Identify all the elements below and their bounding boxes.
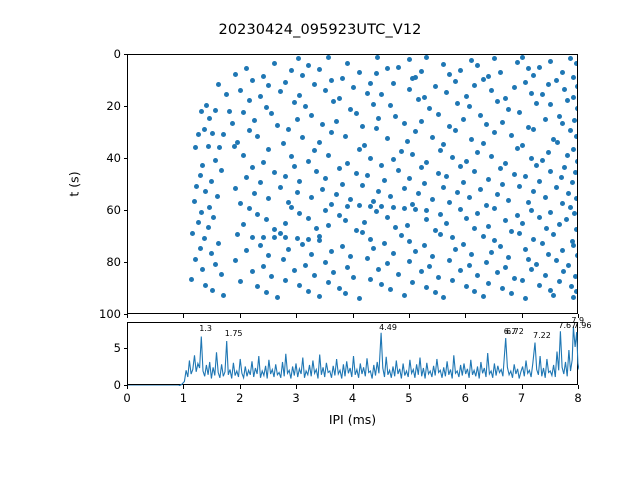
scatter-point bbox=[365, 256, 370, 261]
scatter-point bbox=[543, 273, 548, 278]
scatter-point bbox=[548, 210, 553, 215]
scatter-point bbox=[450, 155, 455, 160]
scatter-point bbox=[309, 252, 314, 257]
scatter-point bbox=[247, 206, 252, 211]
scatter-point bbox=[433, 84, 438, 89]
scatter-point bbox=[529, 208, 534, 213]
scatter-point bbox=[438, 212, 443, 217]
scatter-point bbox=[441, 62, 446, 67]
scatter-point bbox=[436, 275, 441, 280]
scatter-point bbox=[374, 126, 379, 131]
histogram-x-tick-label: 5 bbox=[405, 391, 412, 405]
scatter-point bbox=[419, 269, 424, 274]
scatter-point bbox=[255, 284, 260, 289]
scatter-point bbox=[266, 83, 271, 88]
scatter-point bbox=[329, 130, 334, 135]
scatter-point bbox=[190, 231, 195, 236]
scatter-point bbox=[484, 203, 489, 208]
scatter-point bbox=[575, 253, 577, 258]
scatter-point bbox=[512, 172, 517, 177]
scatter-point bbox=[385, 66, 390, 71]
scatter-point bbox=[348, 254, 353, 259]
scatter-point bbox=[537, 215, 542, 220]
scatter-point bbox=[419, 119, 424, 124]
scatter-point bbox=[531, 189, 536, 194]
histogram-x-tick bbox=[240, 385, 241, 389]
scatter-point bbox=[343, 218, 348, 223]
scatter-point bbox=[416, 97, 421, 102]
scatter-point bbox=[433, 228, 438, 233]
scatter-point bbox=[475, 273, 480, 278]
scatter-point bbox=[221, 132, 226, 137]
scatter-point bbox=[376, 116, 381, 121]
scatter-point bbox=[500, 120, 505, 125]
histogram-x-tick bbox=[353, 385, 354, 389]
scatter-y-tick-label: 20 bbox=[81, 99, 121, 113]
histogram-x-tick bbox=[522, 385, 523, 389]
scatter-point bbox=[297, 93, 302, 98]
scatter-point bbox=[441, 142, 446, 147]
scatter-point bbox=[572, 211, 577, 216]
scatter-point bbox=[329, 249, 334, 254]
scatter-point bbox=[529, 156, 534, 161]
scatter-point bbox=[548, 59, 553, 64]
scatter-point bbox=[410, 76, 415, 81]
scatter-point bbox=[566, 263, 571, 268]
histogram-x-tick-label: 3 bbox=[292, 391, 299, 405]
scatter-point bbox=[484, 122, 489, 127]
scatter-point bbox=[295, 190, 300, 195]
scatter-point bbox=[348, 197, 353, 202]
scatter-point bbox=[413, 207, 418, 212]
scatter-point bbox=[300, 73, 305, 78]
scatter-point bbox=[210, 288, 215, 293]
scatter-point bbox=[571, 295, 576, 300]
scatter-point bbox=[258, 94, 263, 99]
histogram-x-tick bbox=[183, 385, 184, 389]
scatter-point bbox=[281, 257, 286, 262]
scatter-point bbox=[430, 254, 435, 259]
scatter-point bbox=[331, 99, 336, 104]
scatter-point bbox=[213, 262, 218, 267]
scatter-point bbox=[427, 264, 432, 269]
scatter-point bbox=[300, 242, 305, 247]
scatter-point bbox=[453, 128, 458, 133]
scatter-point bbox=[357, 203, 362, 208]
scatter-point bbox=[424, 160, 429, 165]
scatter-point bbox=[430, 135, 435, 140]
scatter-point bbox=[573, 170, 577, 175]
page-title: 20230424_095923UTC_V12 bbox=[0, 22, 640, 38]
scatter-point bbox=[455, 190, 460, 195]
histogram-x-tick bbox=[127, 385, 128, 389]
scatter-point bbox=[562, 87, 567, 92]
scatter-point bbox=[292, 268, 297, 273]
scatter-point bbox=[523, 80, 528, 85]
scatter-point bbox=[252, 191, 257, 196]
scatter-point bbox=[217, 145, 222, 150]
scatter-point bbox=[309, 113, 314, 118]
scatter-point bbox=[250, 78, 255, 83]
scatter-point bbox=[531, 127, 536, 132]
scatter-y-tick bbox=[124, 210, 128, 211]
scatter-point bbox=[407, 259, 412, 264]
scatter-point bbox=[261, 160, 266, 165]
scatter-point bbox=[244, 248, 249, 253]
scatter-point bbox=[568, 205, 573, 210]
scatter-point bbox=[450, 235, 455, 240]
scatter-point bbox=[320, 187, 325, 192]
scatter-point bbox=[388, 194, 393, 199]
scatter-y-tick-label: 100 bbox=[81, 307, 121, 321]
scatter-point bbox=[458, 164, 463, 169]
scatter-point bbox=[537, 179, 542, 184]
scatter-point bbox=[402, 186, 407, 191]
scatter-point bbox=[337, 96, 342, 101]
scatter-point bbox=[475, 211, 480, 216]
scatter-point bbox=[375, 55, 380, 60]
scatter-point bbox=[565, 98, 570, 103]
scatter-point bbox=[467, 195, 472, 200]
scatter-point bbox=[500, 182, 505, 187]
scatter-point bbox=[258, 243, 263, 248]
scatter-point bbox=[286, 247, 291, 252]
scatter-point bbox=[410, 152, 415, 157]
scatter-point bbox=[385, 261, 390, 266]
scatter-point bbox=[376, 189, 381, 194]
scatter-point bbox=[492, 238, 497, 243]
scatter-point bbox=[198, 246, 203, 251]
scatter-point bbox=[546, 82, 551, 87]
scatter-point bbox=[368, 156, 373, 161]
scatter-point bbox=[374, 209, 379, 214]
scatter-point bbox=[232, 144, 237, 149]
scatter-point bbox=[575, 159, 577, 164]
histogram-peak-label: 7.96 bbox=[574, 321, 592, 330]
scatter-point bbox=[557, 222, 562, 227]
scatter-point bbox=[433, 290, 438, 295]
scatter-point bbox=[565, 153, 570, 158]
scatter-point bbox=[345, 265, 350, 270]
scatter-point bbox=[306, 289, 311, 294]
histogram-peak-label: 4.49 bbox=[379, 323, 397, 332]
scatter-point bbox=[329, 78, 334, 83]
scatter-point bbox=[444, 221, 449, 226]
scatter-point bbox=[571, 147, 576, 152]
scatter-point bbox=[289, 68, 294, 73]
scatter-point bbox=[444, 90, 449, 95]
scatter-point bbox=[424, 208, 429, 213]
scatter-point bbox=[515, 146, 520, 151]
scatter-point bbox=[416, 191, 421, 196]
scatter-point bbox=[211, 215, 216, 220]
scatter-point bbox=[385, 136, 390, 141]
scatter-point bbox=[382, 241, 387, 246]
scatter-point bbox=[520, 278, 525, 283]
scatter-y-axis-label-text: t (s) bbox=[67, 171, 82, 196]
scatter-point bbox=[503, 218, 508, 223]
scatter-point bbox=[543, 195, 548, 200]
scatter-point bbox=[376, 267, 381, 272]
scatter-points-layer bbox=[128, 55, 577, 313]
scatter-point bbox=[517, 184, 522, 189]
scatter-point bbox=[573, 274, 577, 279]
scatter-point bbox=[382, 178, 387, 183]
scatter-point bbox=[269, 274, 274, 279]
scatter-point bbox=[306, 237, 311, 242]
scatter-point bbox=[523, 247, 528, 252]
scatter-point bbox=[227, 109, 232, 114]
scatter-point bbox=[534, 101, 539, 106]
scatter-point bbox=[357, 70, 362, 75]
scatter-point bbox=[306, 63, 311, 68]
scatter-point bbox=[193, 257, 198, 262]
scatter-point bbox=[486, 281, 491, 286]
scatter-point bbox=[204, 103, 209, 108]
scatter-point bbox=[317, 294, 322, 299]
scatter-point bbox=[297, 283, 302, 288]
scatter-point bbox=[207, 116, 212, 121]
scatter-point bbox=[407, 87, 412, 92]
scatter-x-tick bbox=[465, 314, 466, 318]
scatter-point bbox=[323, 88, 328, 93]
scatter-point bbox=[441, 295, 446, 300]
scatter-point bbox=[345, 204, 350, 209]
scatter-point bbox=[272, 61, 277, 66]
scatter-point bbox=[385, 215, 390, 220]
scatter-point bbox=[354, 171, 359, 176]
scatter-point bbox=[300, 135, 305, 140]
scatter-point bbox=[379, 163, 384, 168]
scatter-point bbox=[295, 117, 300, 122]
scatter-point bbox=[526, 257, 531, 262]
scatter-point bbox=[396, 65, 401, 70]
scatter-point bbox=[560, 70, 565, 75]
scatter-point bbox=[540, 92, 545, 97]
scatter-point bbox=[306, 159, 311, 164]
scatter-point bbox=[503, 161, 508, 166]
scatter-point bbox=[233, 72, 238, 77]
scatter-point bbox=[450, 278, 455, 283]
scatter-point bbox=[498, 244, 503, 249]
scatter-point bbox=[517, 231, 522, 236]
scatter-point bbox=[523, 174, 528, 179]
scatter-point bbox=[407, 176, 412, 181]
scatter-point bbox=[362, 143, 367, 148]
scatter-y-tick bbox=[124, 106, 128, 107]
scatter-point bbox=[566, 191, 571, 196]
scatter-point bbox=[360, 183, 365, 188]
scatter-point bbox=[343, 134, 348, 139]
scatter-point bbox=[209, 179, 214, 184]
scatter-point bbox=[568, 56, 573, 61]
scatter-point bbox=[405, 223, 410, 228]
histogram-x-tick-label: 0 bbox=[123, 391, 130, 405]
scatter-point bbox=[200, 267, 205, 272]
scatter-point bbox=[548, 102, 553, 107]
scatter-point bbox=[374, 71, 379, 76]
scatter-point bbox=[543, 117, 548, 122]
scatter-point bbox=[559, 175, 564, 180]
scatter-point bbox=[278, 89, 283, 94]
scatter-point bbox=[570, 180, 575, 185]
scatter-point bbox=[296, 56, 301, 61]
scatter-point bbox=[331, 270, 336, 275]
scatter-point bbox=[472, 226, 477, 231]
scatter-point bbox=[360, 230, 365, 235]
scatter-point bbox=[199, 109, 204, 114]
scatter-point bbox=[371, 199, 376, 204]
scatter-point bbox=[289, 154, 294, 159]
scatter-point bbox=[278, 231, 283, 236]
scatter-point bbox=[509, 229, 514, 234]
scatter-point bbox=[266, 147, 271, 152]
histogram-polyline bbox=[128, 327, 579, 386]
scatter-point bbox=[422, 95, 427, 100]
scatter-point bbox=[571, 243, 576, 248]
scatter-point bbox=[560, 248, 565, 253]
scatter-point bbox=[574, 289, 577, 294]
scatter-point bbox=[194, 184, 199, 189]
scatter-point bbox=[264, 217, 269, 222]
scatter-point bbox=[393, 114, 398, 119]
histogram-x-tick-label: 6 bbox=[462, 391, 469, 405]
scatter-point bbox=[481, 141, 486, 146]
scatter-point bbox=[574, 61, 577, 66]
scatter-point bbox=[200, 163, 205, 168]
scatter-point bbox=[506, 255, 511, 260]
scatter-point bbox=[250, 165, 255, 170]
scatter-point bbox=[292, 164, 297, 169]
scatter-point bbox=[572, 118, 577, 123]
scatter-point bbox=[317, 67, 322, 72]
scatter-point bbox=[402, 121, 407, 126]
scatter-y-tick bbox=[124, 158, 128, 159]
scatter-point bbox=[509, 133, 514, 138]
scatter-point bbox=[193, 145, 198, 150]
scatter-point bbox=[469, 58, 474, 63]
scatter-point bbox=[247, 98, 252, 103]
scatter-point bbox=[323, 208, 328, 213]
scatter-point bbox=[407, 239, 412, 244]
scatter-point bbox=[343, 291, 348, 296]
scatter-point bbox=[388, 103, 393, 108]
scatter-point bbox=[264, 105, 269, 110]
scatter-x-tick bbox=[522, 314, 523, 318]
scatter-point bbox=[312, 82, 317, 87]
scatter-point bbox=[475, 150, 480, 155]
scatter-point bbox=[314, 169, 319, 174]
scatter-point bbox=[467, 263, 472, 268]
scatter-point bbox=[396, 272, 401, 277]
scatter-point bbox=[540, 241, 545, 246]
scatter-point bbox=[393, 225, 398, 230]
scatter-point bbox=[453, 79, 458, 84]
scatter-point bbox=[269, 111, 274, 116]
histogram-peak-label: 1.75 bbox=[225, 329, 243, 338]
scatter-point bbox=[278, 185, 283, 190]
scatter-point bbox=[221, 293, 226, 298]
scatter-point bbox=[283, 174, 288, 179]
histogram-x-tick bbox=[465, 385, 466, 389]
scatter-point bbox=[422, 243, 427, 248]
scatter-point bbox=[196, 132, 201, 137]
scatter-point bbox=[413, 249, 418, 254]
scatter-point bbox=[441, 185, 446, 190]
scatter-point bbox=[206, 144, 211, 149]
histogram-y-tick-label: 5 bbox=[81, 341, 121, 355]
scatter-point bbox=[297, 211, 302, 216]
scatter-point bbox=[399, 149, 404, 154]
scatter-point bbox=[486, 177, 491, 182]
scatter-point bbox=[207, 205, 212, 210]
scatter-point bbox=[453, 247, 458, 252]
scatter-point bbox=[241, 153, 246, 158]
scatter-point bbox=[244, 175, 249, 180]
scatter-point bbox=[326, 55, 331, 60]
scatter-point bbox=[526, 125, 531, 130]
scatter-point bbox=[272, 227, 277, 232]
scatter-point bbox=[368, 277, 373, 282]
scatter-point bbox=[410, 202, 415, 207]
scatter-point bbox=[478, 113, 483, 118]
scatter-point bbox=[354, 111, 359, 116]
scatter-point bbox=[337, 166, 342, 171]
scatter-point bbox=[198, 173, 203, 178]
scatter-x-tick bbox=[296, 314, 297, 318]
scatter-point bbox=[472, 83, 477, 88]
scatter-point bbox=[424, 217, 429, 222]
scatter-point bbox=[557, 114, 562, 119]
histogram-peak-label: 1.3 bbox=[199, 324, 212, 333]
histogram-y-tick bbox=[124, 348, 128, 349]
scatter-point bbox=[283, 80, 288, 85]
scatter-point bbox=[534, 163, 539, 168]
scatter-point bbox=[419, 165, 424, 170]
scatter-point bbox=[192, 199, 197, 204]
scatter-point bbox=[196, 220, 201, 225]
scatter-point bbox=[283, 235, 288, 240]
scatter-point bbox=[489, 154, 494, 159]
scatter-point bbox=[562, 165, 567, 170]
scatter-point bbox=[275, 295, 280, 300]
scatter-point bbox=[564, 217, 569, 222]
scatter-point bbox=[517, 110, 522, 115]
scatter-plot-axes bbox=[127, 54, 578, 314]
scatter-y-tick-label: 40 bbox=[81, 151, 121, 165]
scatter-point bbox=[203, 283, 208, 288]
scatter-x-tick bbox=[240, 314, 241, 318]
scatter-point bbox=[272, 235, 277, 240]
scatter-point bbox=[419, 69, 424, 74]
scatter-point bbox=[495, 192, 500, 197]
scatter-point bbox=[447, 124, 452, 129]
scatter-point bbox=[503, 96, 508, 101]
scatter-point bbox=[238, 88, 243, 93]
scatter-point bbox=[484, 260, 489, 265]
scatter-point bbox=[213, 158, 218, 163]
scatter-point bbox=[458, 68, 463, 73]
scatter-point bbox=[489, 88, 494, 93]
scatter-point bbox=[244, 66, 249, 71]
scatter-x-tick bbox=[353, 314, 354, 318]
scatter-point bbox=[438, 148, 443, 153]
scatter-point bbox=[357, 147, 362, 152]
scatter-point bbox=[461, 117, 466, 122]
scatter-point bbox=[489, 250, 494, 255]
scatter-point bbox=[500, 286, 505, 291]
scatter-y-tick-label: 80 bbox=[81, 255, 121, 269]
